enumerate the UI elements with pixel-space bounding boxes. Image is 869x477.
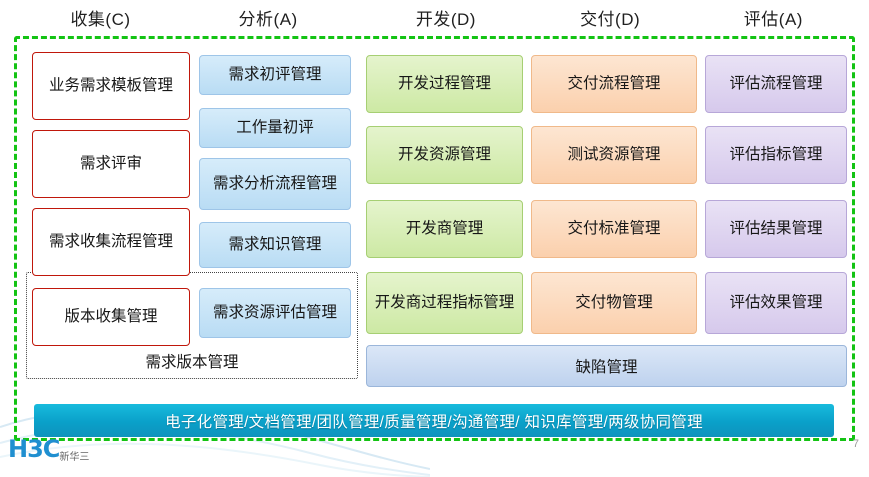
box-requirement-review[interactable]: 需求评审	[32, 130, 190, 198]
box-requirement-collection-process-management[interactable]: 需求收集流程管理	[32, 208, 190, 276]
box-development-process-management[interactable]: 开发过程管理	[366, 55, 523, 113]
column-header-analyze: 分析(A)	[187, 6, 349, 36]
column-header-develop: 开发(D)	[363, 6, 528, 36]
page-number: 7	[853, 438, 859, 450]
box-developer-management[interactable]: 开发商管理	[366, 200, 523, 258]
box-deliverable-management[interactable]: 交付物管理	[531, 272, 697, 334]
box-defect-management[interactable]: 缺陷管理	[366, 345, 847, 387]
box-delivery-standard-management[interactable]: 交付标准管理	[531, 200, 697, 258]
box-requirement-initial-review-management[interactable]: 需求初评管理	[199, 55, 351, 95]
box-version-collection-management[interactable]: 版本收集管理	[32, 288, 190, 346]
box-requirement-analysis-process-management[interactable]: 需求分析流程管理	[199, 158, 351, 210]
box-evaluation-process-management[interactable]: 评估流程管理	[705, 55, 847, 113]
box-evaluation-effect-management[interactable]: 评估效果管理	[705, 272, 847, 334]
slide-canvas: 收集(C) 分析(A) 开发(D) 交付(D) 评估(A) 业务需求模板管理 需…	[0, 0, 869, 477]
footer-capability-bar: 电子化管理/文档管理/团队管理/质量管理/沟通管理/ 知识库管理/两级协同管理	[34, 404, 834, 437]
logo-subtext: 新华三	[59, 452, 89, 463]
column-header-deliver: 交付(D)	[528, 6, 691, 36]
logo-text: H3C	[8, 435, 59, 463]
column-headers: 收集(C) 分析(A) 开发(D) 交付(D) 评估(A)	[14, 6, 855, 36]
box-evaluation-metrics-management[interactable]: 评估指标管理	[705, 126, 847, 184]
box-developer-process-metrics-management[interactable]: 开发商过程指标管理	[366, 272, 523, 334]
box-requirement-knowledge-management[interactable]: 需求知识管理	[199, 222, 351, 268]
box-workload-initial-estimate[interactable]: 工作量初评	[199, 108, 351, 148]
box-evaluation-result-management[interactable]: 评估结果管理	[705, 200, 847, 258]
box-test-resource-management[interactable]: 测试资源管理	[531, 126, 697, 184]
box-requirement-resource-assessment-management[interactable]: 需求资源评估管理	[199, 288, 351, 338]
h3c-logo: H3C新华三	[8, 435, 89, 463]
box-delivery-process-management[interactable]: 交付流程管理	[531, 55, 697, 113]
box-development-resource-management[interactable]: 开发资源管理	[366, 126, 523, 184]
label-requirement-version-management: 需求版本管理	[26, 346, 358, 379]
column-header-evaluate: 评估(A)	[692, 6, 855, 36]
column-header-collect: 收集(C)	[14, 6, 187, 36]
box-business-requirement-template-management[interactable]: 业务需求模板管理	[32, 52, 190, 120]
